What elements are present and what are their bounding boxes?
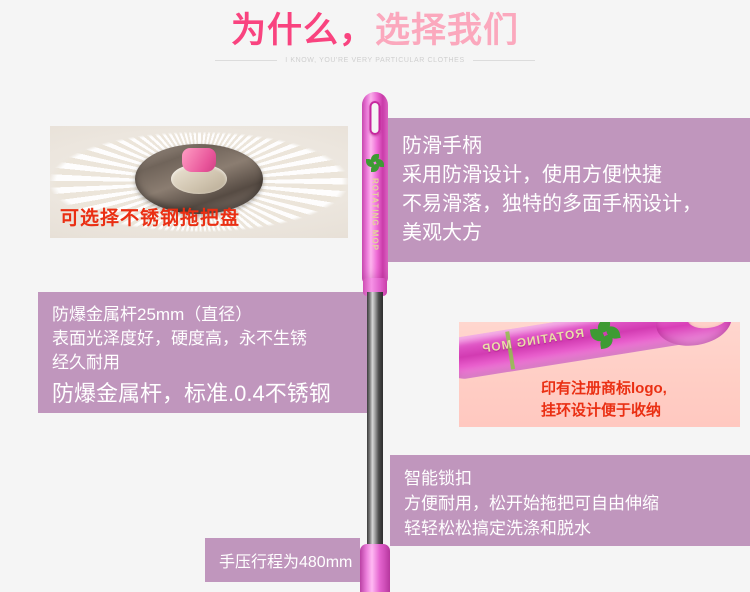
mop-handle: ROTATING MOP — [362, 92, 388, 284]
page-title-strong: 为什么， — [231, 11, 375, 50]
smart-lock-panel: 智能锁扣 方便耐用，松开始拖把可自由伸缩 轻轻松松搞定洗涤和脱水 — [390, 455, 750, 546]
pole-panel-line-3: 经久耐用 — [52, 351, 368, 375]
clover-logo-icon — [366, 154, 384, 172]
page-title-light: 选择我们 — [375, 11, 519, 50]
mop-head-photo: 可选择不锈钢拖把盘 — [50, 126, 348, 238]
lock-panel-line-2: 方便耐用，松开始拖把可自由伸缩 — [404, 491, 750, 516]
stroke-panel-label: 手压行程为480mm — [219, 548, 352, 572]
divider-right — [473, 60, 535, 61]
pink-connector — [182, 148, 216, 172]
handle-panel-line-2: 采用防滑设计，使用方便快捷 — [402, 161, 750, 190]
page-subtitle-row: I KNOW, YOU'RE VERY PARTICULAR CLOTHES — [0, 57, 750, 64]
pole-panel-highlight: 防爆金属杆，标准.0.4不锈钢 — [52, 377, 368, 410]
advertisement-page: 为什么，选择我们 I KNOW, YOU'RE VERY PARTICULAR … — [0, 0, 750, 592]
handle-logo-photo: ROTATING MOP 印有注册商标logo, 挂环设计便于收纳 — [459, 322, 740, 427]
mop-head-photo-caption: 可选择不锈钢拖把盘 — [60, 203, 240, 230]
smart-lock-collar — [360, 544, 390, 592]
handle-panel-line-1: 防滑手柄 — [402, 132, 750, 161]
leaf-icon — [366, 159, 374, 167]
clover-logo-icon — [589, 322, 623, 351]
hand-press-stroke-panel: 手压行程为480mm — [205, 538, 360, 582]
logo-caption-line-1: 印有注册商标logo, — [541, 378, 667, 400]
handle-panel-line-3: 不易滑落，独特的多面手柄设计， — [402, 190, 750, 219]
anti-slip-handle-panel: 防滑手柄 采用防滑设计，使用方便快捷 不易滑落，独特的多面手柄设计， 美观大方 — [388, 118, 750, 262]
lock-panel-line-1: 智能锁扣 — [404, 466, 750, 491]
hanging-hole — [370, 101, 381, 135]
page-header: 为什么，选择我们 I KNOW, YOU'RE VERY PARTICULAR … — [0, 8, 750, 64]
logo-photo-caption: 印有注册商标logo, 挂环设计便于收纳 — [541, 378, 667, 422]
lock-panel-line-3: 轻轻松松搞定洗涤和脱水 — [404, 516, 750, 541]
handle-panel-line-4: 美观大方 — [402, 219, 750, 248]
logo-caption-line-2: 挂环设计便于收纳 — [541, 400, 667, 422]
mop-product-illustration: ROTATING MOP — [358, 92, 392, 592]
metal-pole-panel: 防爆金属杆25mm（直径） 表面光泽度好，硬度高，永不生锈 经久耐用 防爆金属杆… — [38, 292, 368, 413]
pole-panel-line-1: 防爆金属杆25mm（直径） — [52, 303, 368, 327]
divider-left — [215, 60, 277, 61]
pole-panel-line-2: 表面光泽度好，硬度高，永不生锈 — [52, 327, 368, 351]
page-subtitle: I KNOW, YOU'RE VERY PARTICULAR CLOTHES — [285, 57, 464, 64]
brand-text: ROTATING MOP — [480, 326, 584, 356]
handle-brand-text: ROTATING MOP — [371, 178, 380, 251]
page-title: 为什么，选择我们 — [0, 8, 750, 54]
hanging-hole — [686, 322, 731, 331]
